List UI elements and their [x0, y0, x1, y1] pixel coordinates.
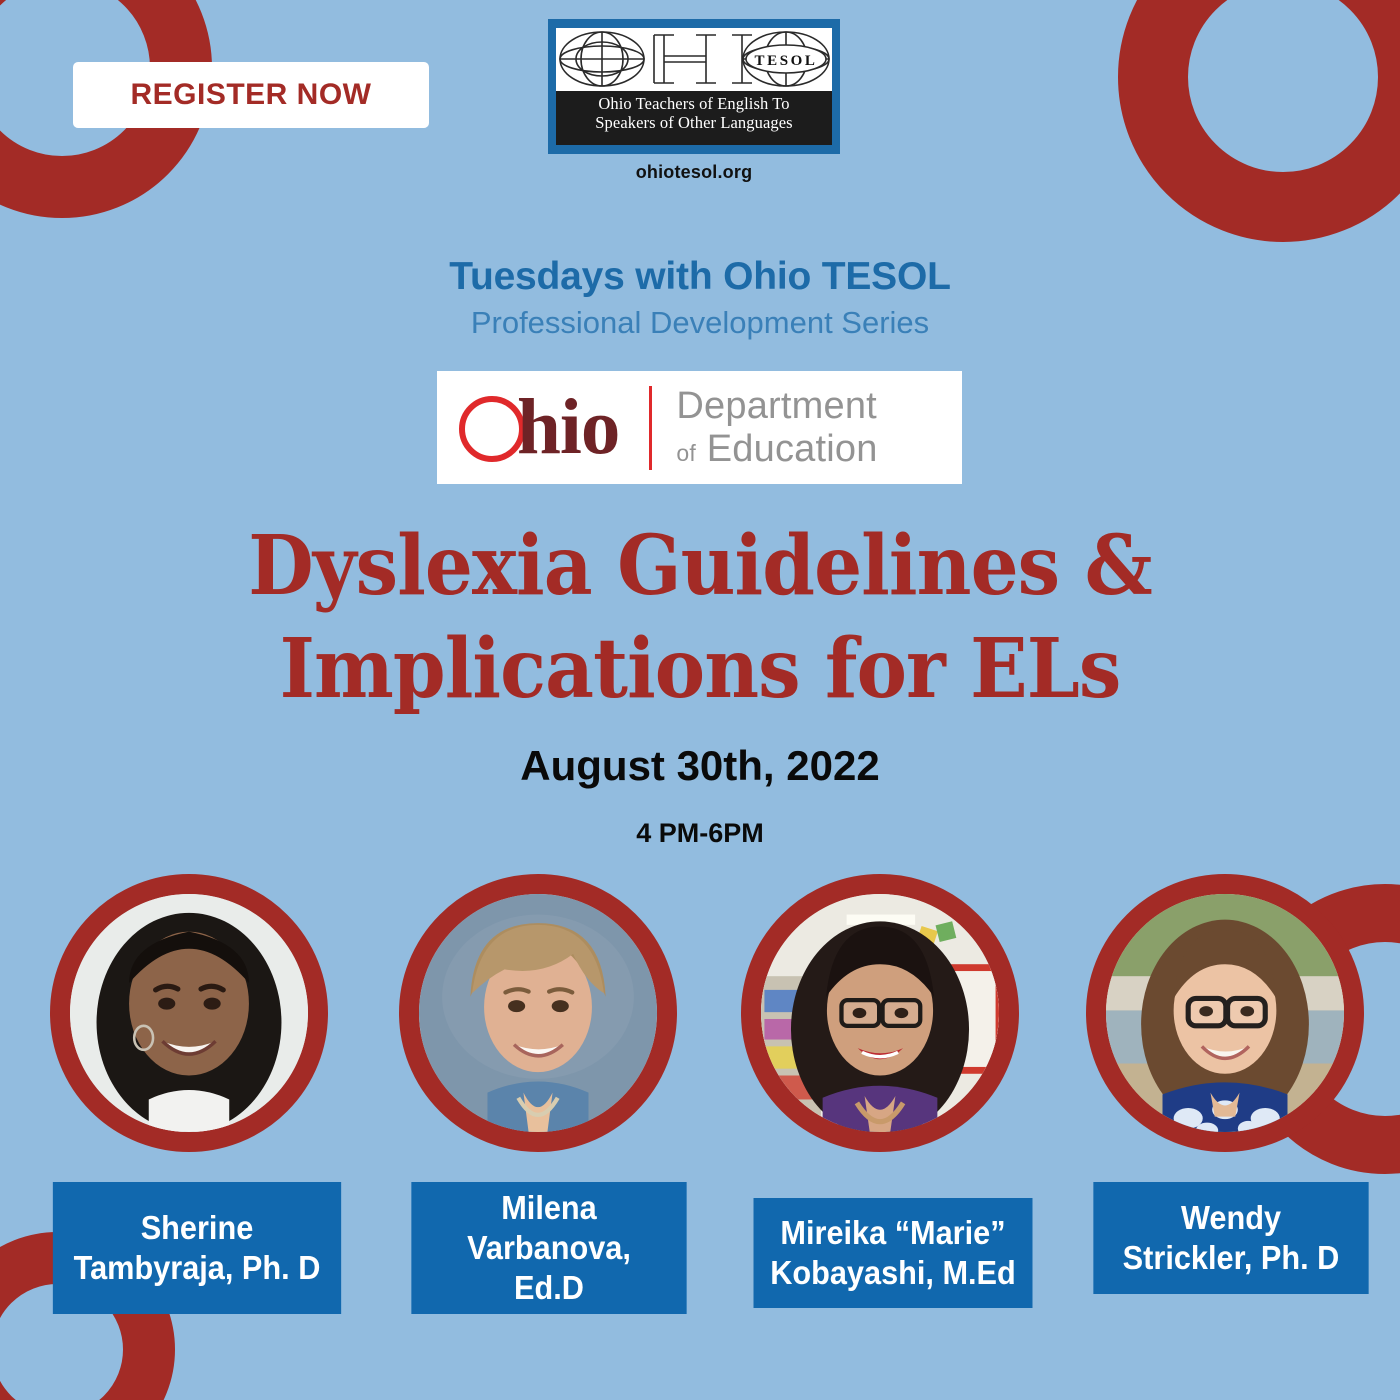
flyer-canvas: REGISTER NOW [0, 0, 1400, 1400]
ode-wordmark: hio [517, 394, 619, 462]
speaker-nameplate: Mireika “Marie”Kobayashi, M.Ed [754, 1198, 1033, 1308]
event-title-line-2: Implications for ELs [56, 618, 1344, 721]
speaker-list: SherineTambyraja, Ph. D MilenaVarbanova,… [0, 874, 1400, 1344]
register-now-label: REGISTER NOW [130, 78, 371, 112]
event-title-line-1: Dyslexia Guidelines & [56, 515, 1344, 618]
speaker-nameplate: SherineTambyraja, Ph. D [53, 1182, 341, 1314]
ohiotesol-url[interactable]: ohiotesol.org [548, 162, 840, 183]
ode-dept-of: of [676, 440, 696, 466]
event-date: August 30th, 2022 [0, 742, 1400, 790]
tesol-tagline-line-1: Ohio Teachers of English To [556, 94, 832, 113]
speaker-name: WendyStrickler, Ph. D [1123, 1198, 1340, 1279]
speaker-name: MilenaVarbanova,Ed.D [467, 1188, 631, 1309]
ohio-tesol-logo: TESOL Ohio Teachers of English To Speake… [548, 19, 840, 154]
ohio-tesol-tagline: Ohio Teachers of English To Speakers of … [556, 91, 832, 145]
series-title: Tuesdays with Ohio TESOL [0, 255, 1400, 299]
avatar [1086, 874, 1364, 1152]
series-subtitle: Professional Development Series [0, 305, 1400, 341]
register-now-button[interactable]: REGISTER NOW [73, 62, 429, 128]
avatar [741, 874, 1019, 1152]
event-time: 4 PM-6PM [0, 818, 1400, 849]
tesol-tagline-line-2: Speakers of Other Languages [556, 113, 832, 132]
ode-circle-o-icon [459, 396, 525, 462]
event-title: Dyslexia Guidelines & Implications for E… [56, 515, 1344, 720]
avatar [50, 874, 328, 1152]
ohio-department-of-education-logo: hio Department of Education [437, 371, 962, 484]
speaker-name: SherineTambyraja, Ph. D [74, 1208, 321, 1289]
speaker-card [50, 874, 328, 1152]
speaker-nameplate: MilenaVarbanova,Ed.D [411, 1182, 686, 1314]
avatar [399, 874, 677, 1152]
ohio-tesol-wordmark-icon: TESOL [556, 28, 832, 91]
speaker-card [399, 874, 677, 1152]
svg-text:TESOL: TESOL [754, 53, 817, 69]
ode-dept-line-2: of Education [676, 430, 877, 468]
speaker-card [1086, 874, 1364, 1152]
ode-dept-education: Education [707, 428, 878, 470]
speaker-nameplate: WendyStrickler, Ph. D [1093, 1182, 1368, 1294]
decorative-ring-top-right [1118, 0, 1400, 242]
ode-divider [649, 386, 652, 470]
ode-dept-line-1: Department [676, 387, 877, 425]
speaker-name: Mireika “Marie”Kobayashi, M.Ed [770, 1213, 1016, 1294]
speaker-card [741, 874, 1019, 1152]
